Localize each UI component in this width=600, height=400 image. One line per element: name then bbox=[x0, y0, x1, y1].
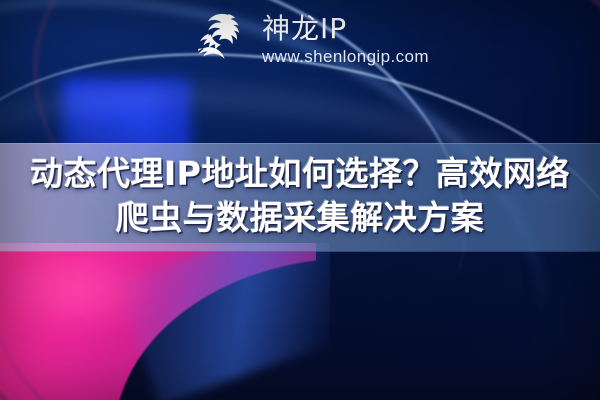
brand-url: www.shenlongip.com bbox=[262, 48, 429, 65]
promo-banner: 神龙IP www.shenlongip.com 动态代理IP地址如何选择？高效网… bbox=[0, 0, 600, 400]
magenta-arc-thin-icon bbox=[0, 243, 330, 400]
brand-name: 神龙IP bbox=[262, 15, 429, 43]
brand-header: 神龙IP www.shenlongip.com bbox=[188, 6, 508, 72]
page-title: 动态代理IP地址如何选择？高效网络 爬虫与数据采集解决方案 bbox=[0, 152, 600, 240]
title-line-2: 爬虫与数据采集解决方案 bbox=[0, 196, 600, 240]
magenta-wedge-icon bbox=[0, 243, 330, 400]
brand-text-group: 神龙IP www.shenlongip.com bbox=[262, 13, 429, 65]
title-line-1: 动态代理IP地址如何选择？高效网络 bbox=[0, 152, 600, 196]
dragon-icon bbox=[188, 10, 250, 68]
